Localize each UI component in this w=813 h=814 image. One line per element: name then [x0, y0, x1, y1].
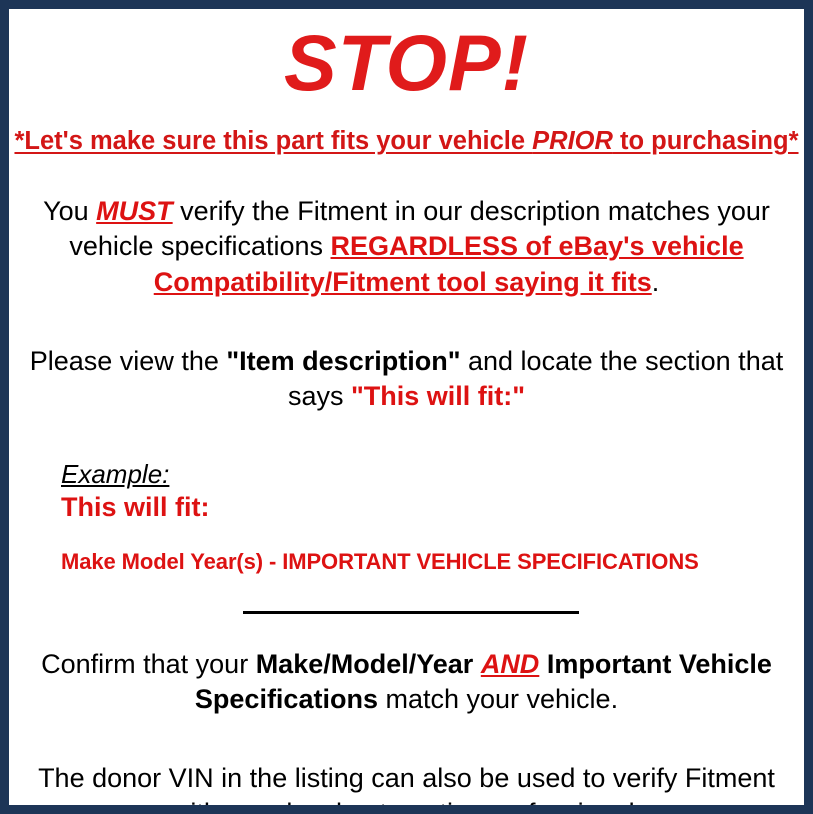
- view-description-paragraph: Please view the "Item description" and l…: [9, 300, 804, 414]
- donor-vin-paragraph: The donor VIN in the listing can also be…: [9, 717, 804, 805]
- tagline-after: to purchasing*: [613, 127, 799, 155]
- must-paragraph-seg5: .: [652, 267, 660, 297]
- this-will-fit-quote: "This will fit:": [351, 381, 525, 411]
- item-description-emphasis: "Item description": [226, 346, 460, 376]
- example-label: Example:: [61, 460, 804, 489]
- confirm-seg5: [539, 649, 547, 679]
- tagline-before: *Let's make sure this part fits your veh…: [14, 127, 532, 155]
- example-fit-heading: This will fit:: [61, 489, 804, 525]
- make-model-year-emphasis: Make/Model/Year: [256, 649, 474, 679]
- confirm-seg7: match your vehicle.: [378, 684, 618, 714]
- must-paragraph-seg1: You: [43, 196, 96, 226]
- and-emphasis: AND: [481, 649, 540, 679]
- must-verify-paragraph: You MUST verify the Fitment in our descr…: [9, 156, 804, 299]
- divider-wrap: [9, 575, 804, 619]
- example-spec-line: Make Model Year(s) - IMPORTANT VEHICLE S…: [61, 525, 804, 575]
- confirm-seg1: Confirm that your: [41, 649, 256, 679]
- confirm-paragraph: Confirm that your Make/Model/Year AND Im…: [9, 619, 804, 717]
- fitment-notice-card: STOP! *Let's make sure this part fits yo…: [9, 9, 804, 805]
- stop-title: STOP!: [9, 9, 804, 102]
- tagline-emphasis-prior: PRIOR: [532, 127, 613, 155]
- view-paragraph-seg1: Please view the: [30, 346, 227, 376]
- section-divider: [243, 611, 579, 614]
- confirm-seg3: [473, 649, 481, 679]
- must-emphasis: MUST: [96, 196, 173, 226]
- tagline: *Let's make sure this part fits your veh…: [9, 102, 804, 156]
- example-block: Example: This will fit: Make Model Year(…: [9, 414, 804, 575]
